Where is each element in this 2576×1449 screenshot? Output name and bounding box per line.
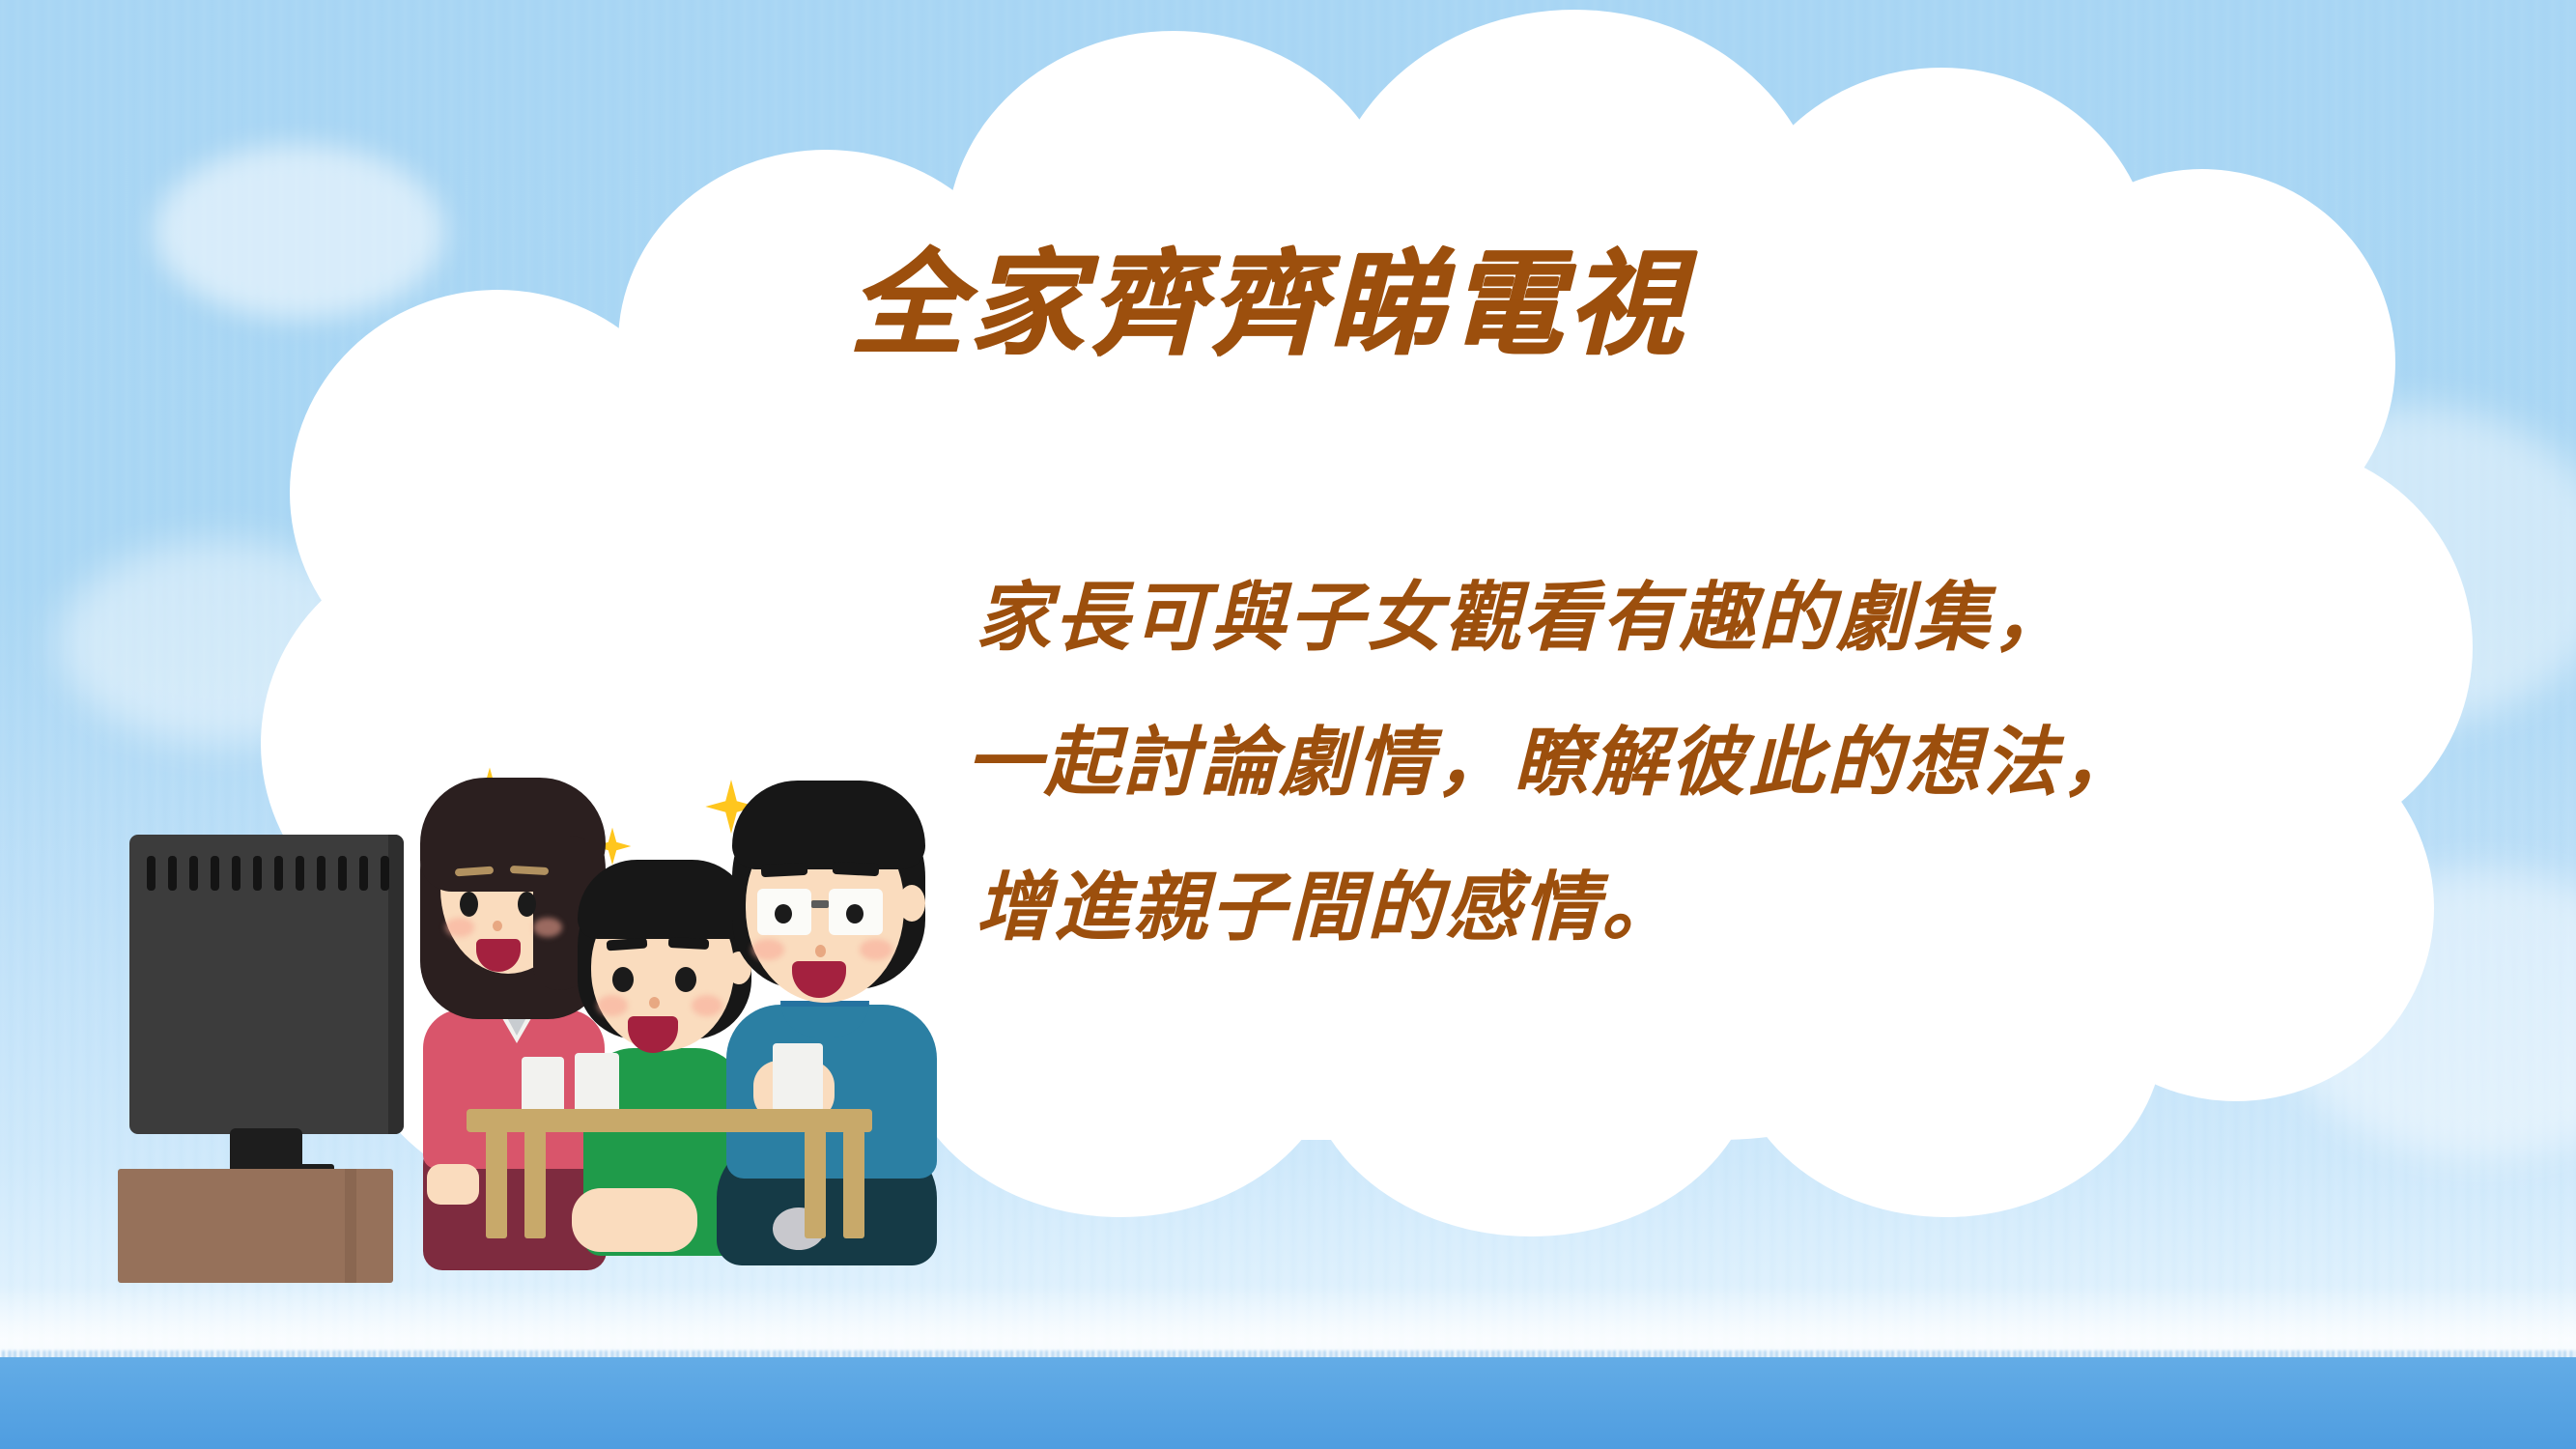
body-line-3: 增進親子間的感情。	[976, 836, 2231, 980]
cup	[522, 1057, 564, 1117]
water-band	[0, 1357, 2576, 1449]
child-bangs	[578, 860, 751, 939]
background-cloud-left-2	[58, 541, 386, 744]
child-eye-right	[675, 967, 696, 992]
child-eye-left	[612, 967, 634, 992]
father-bangs	[732, 781, 925, 869]
father-eye-right	[846, 904, 863, 923]
slide-canvas: 全家齊齊睇電視 家長可與子女觀看有趣的劇集， 一起討論劇情，瞭解彼此的想法， 增…	[0, 0, 2576, 1449]
background-cloud-left	[155, 145, 444, 319]
mother-eye-right	[518, 892, 536, 917]
father-eyebrow-left	[761, 863, 808, 877]
cup	[575, 1053, 619, 1117]
mother-nose	[493, 921, 502, 931]
cup	[773, 1043, 823, 1115]
child-hands	[572, 1188, 697, 1252]
child-eyebrow-right	[668, 937, 710, 950]
glasses-bridge	[811, 900, 829, 908]
body-paragraph: 家長可與子女觀看有趣的劇集， 一起討論劇情，瞭解彼此的想法， 增進親子間的感情。	[976, 546, 2231, 980]
page-title: 全家齊齊睇電視	[850, 246, 1864, 360]
body-line-1: 家長可與子女觀看有趣的劇集，	[976, 546, 2231, 691]
child-nose	[649, 997, 660, 1009]
father-ear	[898, 885, 925, 922]
mother-eye-left	[460, 892, 478, 917]
father-nose	[815, 945, 826, 957]
family-watching-tv-illustration	[0, 753, 966, 1294]
father-eye-left	[775, 904, 792, 923]
body-line-2: 一起討論劇情，瞭解彼此的想法，	[966, 691, 2231, 836]
mother-hand	[427, 1164, 479, 1205]
father-eyebrow-right	[833, 862, 880, 876]
